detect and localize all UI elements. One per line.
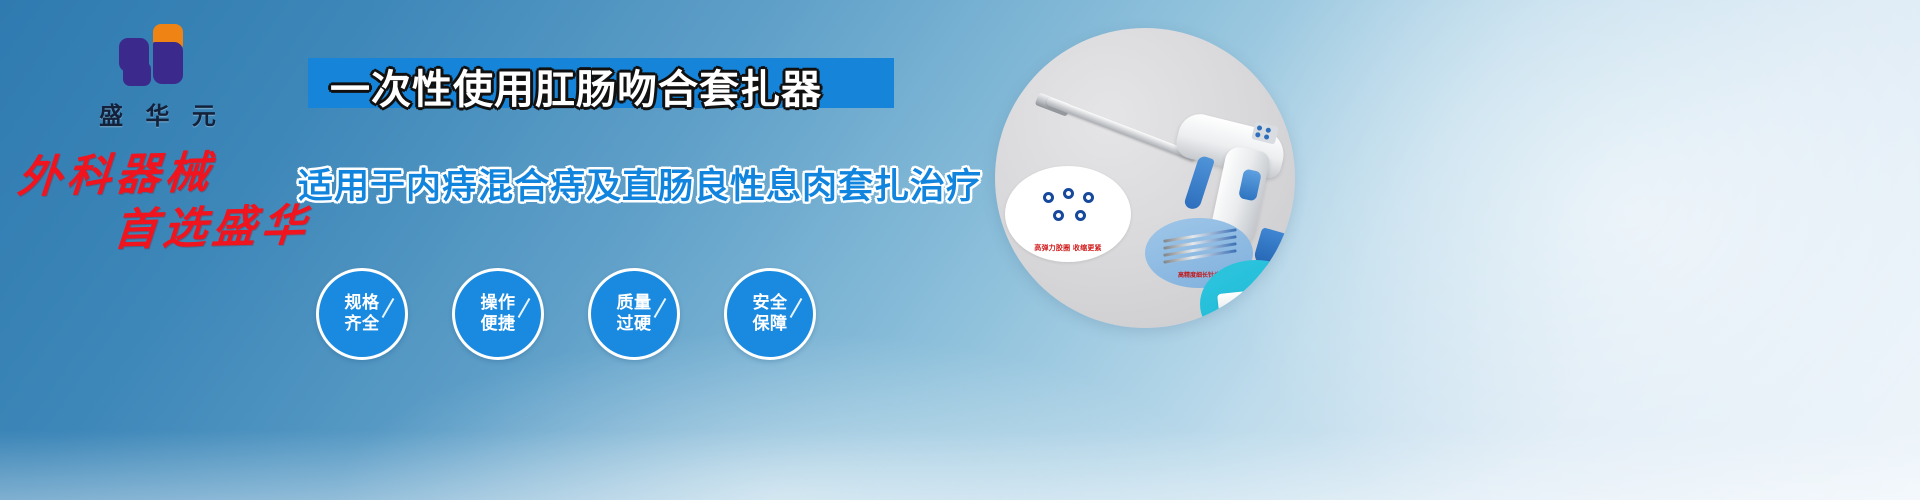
feature-circle-list: 规格 齐全 操作 便捷 质量 过硬 安全 保障	[316, 268, 816, 360]
brand-logo[interactable]: 盛 华 元	[66, 24, 256, 131]
ligation-applicator-photo-icon: 高弹力胶圈 收缩更紧 高精度细长针头	[995, 28, 1295, 328]
applicator-trigger	[1183, 155, 1215, 211]
promo-banner: 盛 华 元 外科器械 首选盛华 一次性使用肛肠吻合套扎器 适用于内痔混合痔及直肠…	[0, 0, 1920, 500]
rubber-ring	[1063, 188, 1074, 199]
feature-circle-1-line-1: 规格	[345, 293, 380, 314]
bottom-fade	[0, 430, 1920, 500]
logo-block-3	[153, 42, 183, 84]
slash-icon	[382, 298, 395, 318]
page-title: 一次性使用肛肠吻合套扎器	[330, 57, 890, 115]
calligraphy-line-2: 首选盛华	[112, 203, 350, 253]
logo-block-4	[123, 62, 151, 86]
rubber-ring	[1053, 210, 1064, 221]
rubber-rings-inset-icon: 高弹力胶圈 收缩更紧	[1005, 166, 1131, 262]
feature-circle-3-line-2: 过硬	[617, 314, 652, 335]
rubber-ring	[1043, 192, 1054, 203]
feature-circle-4[interactable]: 安全 保障	[724, 268, 816, 360]
rubber-rings-caption: 高弹力胶圈 收缩更紧	[1011, 243, 1125, 253]
feature-circle-3[interactable]: 质量 过硬	[588, 268, 680, 360]
feature-circle-1[interactable]: 规格 齐全	[316, 268, 408, 360]
brand-name: 盛 华 元	[66, 96, 256, 131]
feature-circle-2[interactable]: 操作 便捷	[452, 268, 544, 360]
applicator-shaft	[1045, 96, 1198, 162]
slash-icon	[518, 298, 531, 318]
feature-circle-4-line-2: 保障	[753, 314, 788, 335]
feature-circle-2-line-1: 操作	[481, 293, 516, 314]
rubber-ring	[1083, 192, 1094, 203]
feature-circle-1-line-2: 齐全	[345, 314, 380, 335]
subtitle: 适用于内痔混合痔及直肠良性息肉套扎治疗	[298, 158, 938, 209]
slash-icon	[790, 298, 803, 318]
background-glow-right	[1220, 0, 1920, 500]
feature-circle-4-line-1: 安全	[753, 293, 788, 314]
feature-circle-2-line-2: 便捷	[481, 314, 516, 335]
rubber-ring	[1075, 210, 1086, 221]
feature-circle-3-line-1: 质量	[617, 293, 652, 314]
shenghuayuan-blocks-logo-icon	[119, 24, 203, 90]
slash-icon	[654, 298, 667, 318]
